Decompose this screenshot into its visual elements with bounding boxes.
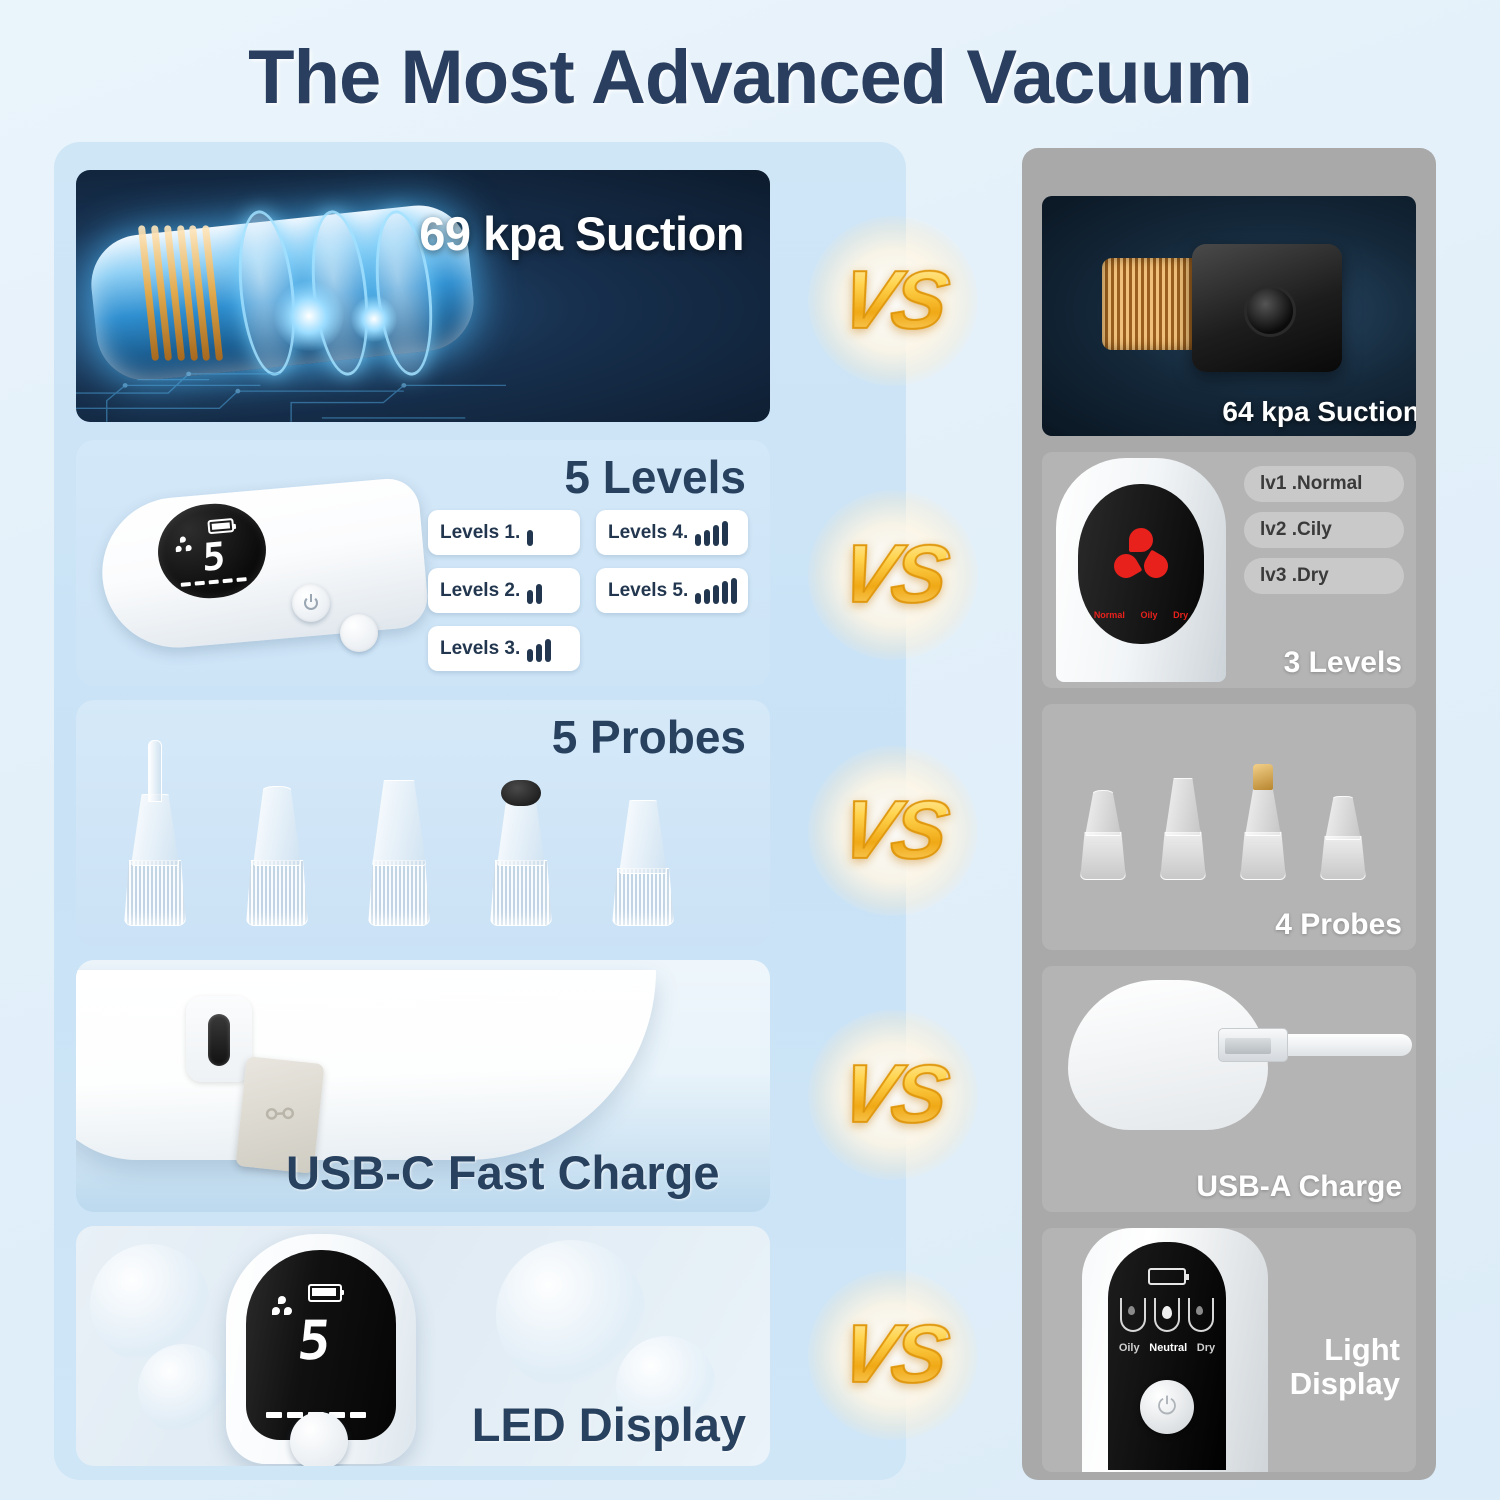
level-pill-bars <box>695 520 728 546</box>
probe-row <box>102 744 742 934</box>
level-tag-list: lv1 .Normal lv2 .Cily lv3 .Dry <box>1244 466 1404 604</box>
level-tag: lv3 .Dry <box>1244 558 1404 594</box>
screen-mode-label: Oily <box>1140 610 1157 620</box>
device-illustration: 5 <box>96 462 426 670</box>
vs-badge: VS <box>808 746 978 916</box>
level-pill-bars <box>527 520 533 546</box>
level-pill-bars <box>527 578 542 604</box>
right-charge-label: USB-A Charge <box>1196 1170 1402 1204</box>
left-display-card: 5 LED Display <box>76 1226 770 1466</box>
battery-icon <box>1148 1268 1186 1285</box>
right-levels-card: Normal Oily Dry lv1 .Normal lv2 .Cily lv… <box>1042 452 1416 688</box>
right-probes-label: 4 Probes <box>1275 908 1402 942</box>
right-suction-label: 64 kpa Suction <box>1222 396 1416 428</box>
fan-icon <box>272 1296 292 1316</box>
vs-badge: VS <box>808 490 978 660</box>
device-display-body: 5 <box>226 1234 416 1464</box>
screen-mode-labels: Oily Neutral Dry <box>1108 1342 1226 1354</box>
water-drop-icon <box>1154 1298 1180 1332</box>
probe-item <box>1230 756 1296 880</box>
screen-mode-label: Dry <box>1173 610 1188 620</box>
vs-badge-label: VS <box>834 784 952 878</box>
probe-item <box>112 740 198 926</box>
usb-a-plug <box>1218 1028 1288 1062</box>
power-button[interactable] <box>290 1412 348 1466</box>
level-pill: Levels 1. <box>428 510 580 555</box>
usb-logo-icon: ⚯ <box>265 1095 295 1136</box>
rotor-housing <box>1192 244 1342 372</box>
device-led-screen: Oily Neutral Dry <box>1108 1242 1226 1470</box>
battery-icon <box>207 518 234 534</box>
screen-mode-label: Oily <box>1119 1342 1140 1354</box>
right-suction-card: 64 kpa Suction <box>1042 196 1416 436</box>
screen-mode-label: Dry <box>1197 1342 1215 1354</box>
left-suction-card: 69 kpa Suction <box>76 170 770 422</box>
infographic-page: The Most Advanced Vacuum 69 kpa Suc <box>0 0 1500 1500</box>
battery-icon <box>308 1284 342 1302</box>
water-drop-icon <box>1188 1298 1214 1332</box>
left-probes-card: 5 Probes <box>76 700 770 946</box>
device-display-body: Oily Neutral Dry <box>1082 1228 1268 1472</box>
probe-item <box>600 784 686 926</box>
probe-item <box>1150 768 1216 880</box>
probe-item <box>478 766 564 926</box>
left-levels-card: 5 Levels 5 Levels 1. Levels 2 <box>76 440 770 686</box>
right-levels-label: 3 Levels <box>1284 646 1402 680</box>
level-pill-label: Levels 5. <box>608 580 688 602</box>
level-pill: Levels 2. <box>428 568 580 613</box>
left-levels-heading: 5 Levels <box>564 450 746 504</box>
level-pill: Levels 3. <box>428 626 580 671</box>
screen-mode-labels: Normal Oily Dry <box>1086 610 1196 620</box>
right-display-label: Light Display <box>1290 1333 1400 1402</box>
level-pill-label: Levels 1. <box>440 522 520 544</box>
left-charge-card: ⚯ USB-C Fast Charge <box>76 960 770 1212</box>
screen-mode-label: Neutral <box>1149 1342 1187 1354</box>
level-digit: 5 <box>295 1314 333 1368</box>
probe-row <box>1066 750 1396 880</box>
power-button[interactable] <box>1140 1380 1194 1434</box>
skin-type-icons <box>1108 1298 1226 1332</box>
probe-item <box>234 776 320 926</box>
probe-item <box>356 776 442 926</box>
device-body: Normal Oily Dry <box>1056 458 1226 682</box>
left-charge-label: USB-C Fast Charge <box>286 1145 720 1200</box>
fan-icon <box>175 536 192 553</box>
level-tag: lv2 .Cily <box>1244 512 1404 548</box>
probe-item <box>1310 784 1376 880</box>
vs-badge: VS <box>808 216 978 386</box>
vs-badge-label: VS <box>834 254 952 348</box>
power-button[interactable] <box>292 584 330 622</box>
mode-button[interactable] <box>340 614 378 652</box>
screen-mode-label: Normal <box>1094 610 1125 620</box>
usb-c-port <box>186 996 252 1082</box>
device-led-screen: Normal Oily Dry <box>1078 484 1204 644</box>
left-suction-label: 69 kpa Suction <box>419 206 744 261</box>
left-display-label: LED Display <box>472 1397 746 1452</box>
level-tag: lv1 .Normal <box>1244 466 1404 502</box>
vs-badge-label: VS <box>834 528 952 622</box>
right-display-label-line1: Light <box>1290 1333 1400 1368</box>
vs-badge-label: VS <box>834 1308 952 1402</box>
level-digit: 5 <box>202 537 225 577</box>
level-pill-label: Levels 3. <box>440 638 520 660</box>
right-charge-card: USB-A Charge <box>1042 966 1416 1212</box>
device-charge-body <box>76 970 656 1160</box>
level-pill: Levels 5. <box>596 568 748 613</box>
vs-badge-label: VS <box>834 1048 952 1142</box>
right-display-label-line2: Display <box>1290 1367 1400 1402</box>
power-icon <box>304 596 318 610</box>
level-pill-bars <box>527 636 551 662</box>
fan-icon <box>1114 528 1168 582</box>
page-title: The Most Advanced Vacuum <box>0 34 1500 121</box>
level-pill-label: Levels 4. <box>608 522 688 544</box>
water-drop-icon <box>1120 1298 1146 1332</box>
right-display-card: Oily Neutral Dry Light Display <box>1042 1228 1416 1472</box>
probe-item <box>1070 780 1136 880</box>
vs-badge: VS <box>808 1270 978 1440</box>
right-probes-card: 4 Probes <box>1042 704 1416 950</box>
level-pill-label: Levels 2. <box>440 580 520 602</box>
level-pill: Levels 4. <box>596 510 748 555</box>
vs-badge: VS <box>808 1010 978 1180</box>
level-pill-bars <box>695 578 737 604</box>
circuit-lines-icon <box>76 326 506 422</box>
